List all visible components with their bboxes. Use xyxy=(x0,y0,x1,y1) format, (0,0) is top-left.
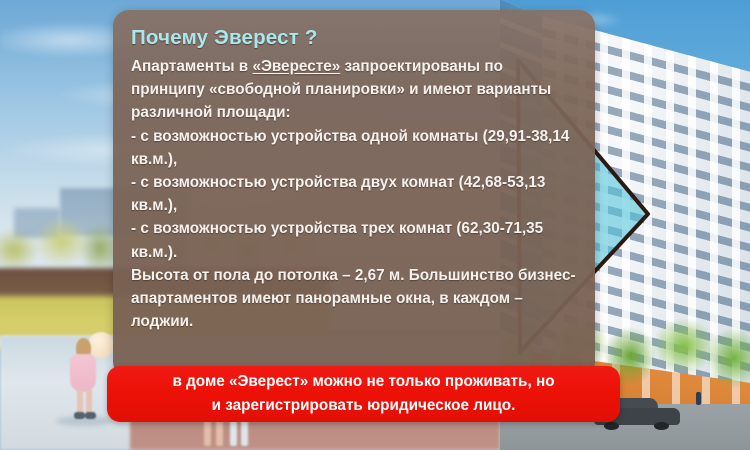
bullet-one-room: - с возможностью устройства одной комнат… xyxy=(131,125,577,171)
paragraph-ceiling: Высота от пола до потолка – 2,67 м. Боль… xyxy=(131,264,577,334)
content-panel: Почему Эверест ? Апартаменты в «Эвересте… xyxy=(113,10,595,378)
girl-with-balloon xyxy=(62,336,108,428)
banner-line-2: и зарегистрировать юридическое лицо. xyxy=(212,394,516,418)
panel-title: Почему Эверест ? xyxy=(131,26,577,50)
paragraph-intro: Апартаменты в «Эвересте» запроектированы… xyxy=(131,55,577,125)
girl-shoe-right xyxy=(85,412,96,419)
girl-leg-left xyxy=(77,390,83,414)
banner-line-1: в доме «Эверест» можно не только прожива… xyxy=(172,370,554,394)
panel-body: Апартаменты в «Эвересте» запроектированы… xyxy=(131,55,577,333)
bullet-three-rooms: - с возможностью устройства трех комнат … xyxy=(131,217,577,263)
girl-leg-right xyxy=(86,390,92,414)
girl-dress xyxy=(70,354,96,392)
slide-canvas: Почему Эверест ? Апартаменты в «Эвересте… xyxy=(0,0,750,450)
brand-name-highlight: «Эвересте» xyxy=(252,58,340,75)
bullet-two-rooms: - с возможностью устройства двух комнат … xyxy=(131,171,577,217)
girl-shoe-left xyxy=(74,412,85,419)
intro-text-pre: Апартаменты в xyxy=(131,58,252,75)
red-callout-banner: в доме «Эверест» можно не только прожива… xyxy=(107,366,620,422)
